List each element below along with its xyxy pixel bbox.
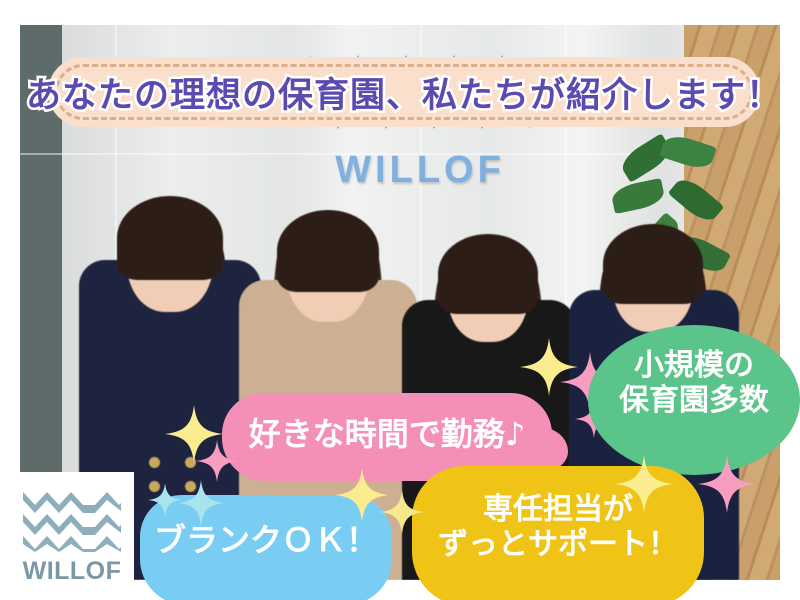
headline-text: あなたの理想の保育園、私たちが紹介します！	[48, 57, 760, 127]
bubble-pink-text: 好きな時間で勤務♪	[222, 416, 552, 454]
sparkle-icon	[196, 440, 238, 482]
willof-logo-card: WILLOF	[10, 472, 134, 600]
sparkle-icon	[178, 480, 224, 526]
sparkle-icon	[615, 455, 673, 513]
zigzag-logo-icon	[23, 486, 121, 552]
logo-wordmark: WILLOF	[23, 557, 122, 586]
headline-banner: あなたの理想の保育園、私たちが紹介します！	[48, 57, 760, 127]
sparkle-icon	[148, 483, 182, 517]
advertisement-banner: WILLOF	[0, 0, 800, 600]
bubble-green-text: 小規模の 保育園多数	[588, 348, 800, 419]
bubble-blue-text: ブランクＯＫ！	[140, 522, 392, 560]
sparkle-icon	[380, 490, 424, 534]
sparkle-icon	[698, 455, 756, 513]
